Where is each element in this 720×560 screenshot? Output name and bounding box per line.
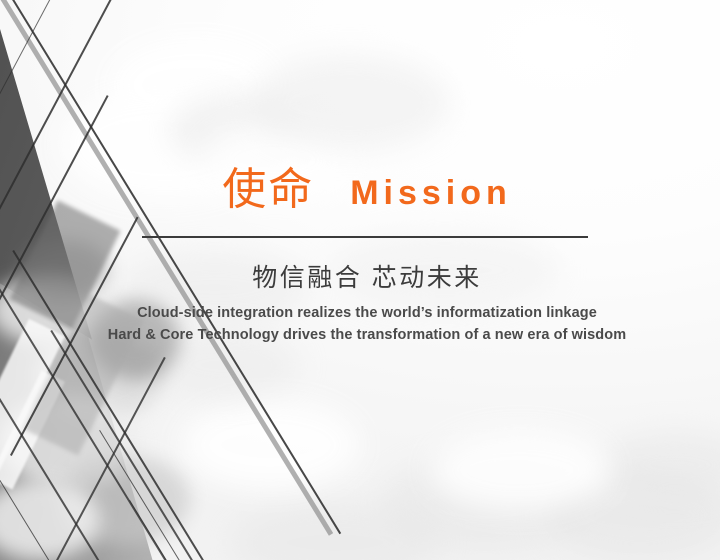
divider-line — [142, 236, 588, 238]
tagline-line-2: Hard & Core Technology drives the transf… — [72, 324, 662, 346]
headline-chinese: 使命 — [222, 168, 314, 212]
tagline-line-1: Cloud-side integration realizes the worl… — [72, 302, 662, 324]
subtitle: 物信融合 芯动未来 — [142, 258, 592, 294]
headline: 使命 Mission — [142, 168, 592, 212]
mission-banner: 使命 Mission 物信融合 芯动未来 Cloud-side integrat… — [0, 0, 720, 560]
tagline: Cloud-side integration realizes the worl… — [72, 302, 662, 346]
headline-english: Mission — [350, 176, 512, 210]
